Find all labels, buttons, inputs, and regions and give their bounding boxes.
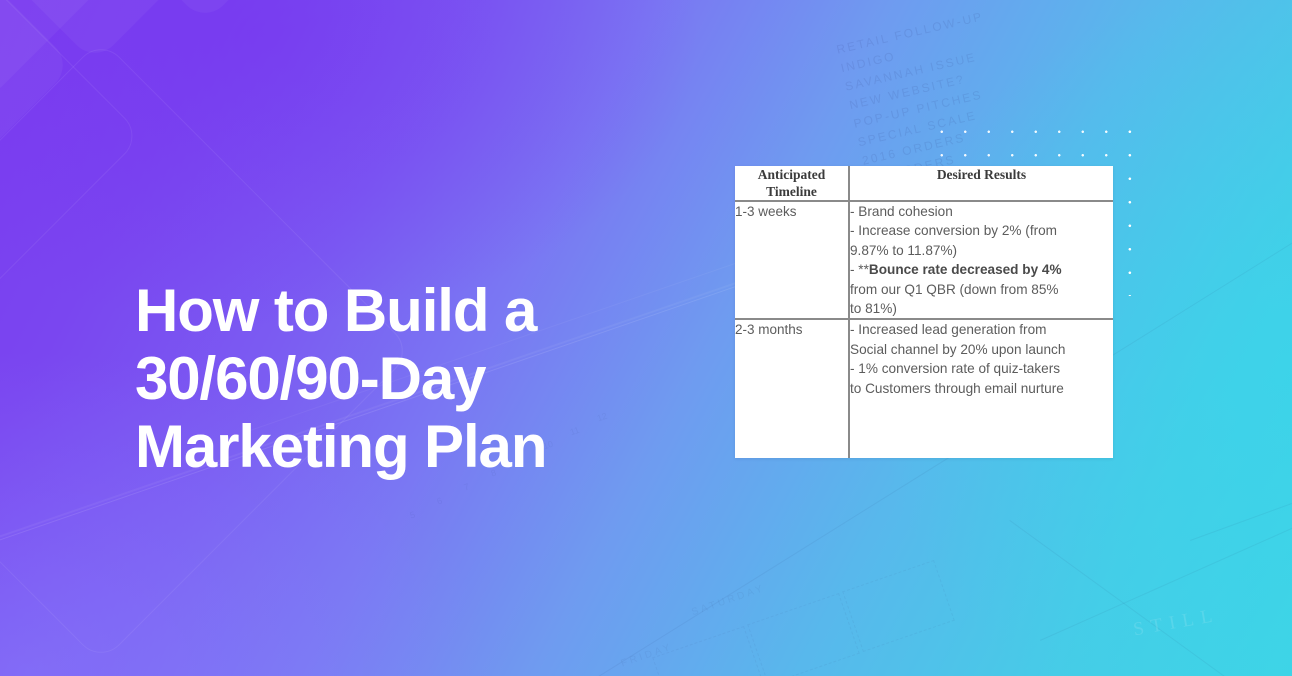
cell-timeline: 2-3 months bbox=[735, 319, 849, 458]
cell-timeline: 1-3 weeks bbox=[735, 201, 849, 319]
sheet-line-3 bbox=[1009, 520, 1292, 676]
result-item-emphasis: Bounce rate decreased by 4% bbox=[869, 262, 1062, 277]
result-item-prefix: - ** bbox=[850, 262, 869, 277]
result-item: - Increase conversion by 2% (from bbox=[850, 221, 1113, 240]
cell-results: - Increased lead generation from Social … bbox=[849, 319, 1113, 458]
column-header-desired-results: Desired Results bbox=[849, 166, 1113, 201]
result-item: - Increased lead generation from bbox=[850, 320, 1113, 339]
table-row: 2-3 months - Increased lead generation f… bbox=[735, 319, 1113, 458]
result-item: from our Q1 QBR (down from 85% bbox=[850, 280, 1113, 299]
timeline-results-table: Anticipated Timeline Desired Results 1-3… bbox=[735, 166, 1113, 458]
result-item: 9.87% to 11.87%) bbox=[850, 241, 1113, 260]
page-title-line-3: Marketing Plan bbox=[135, 413, 695, 481]
column-header-line-1: Anticipated bbox=[758, 167, 826, 182]
column-header-line-2: Timeline bbox=[766, 184, 817, 199]
page-title: How to Build a 30/60/90-Day Marketing Pl… bbox=[135, 277, 695, 481]
edge-letter-e1 bbox=[0, 0, 4, 18]
page-title-line-2: 30/60/90-Day bbox=[135, 345, 695, 413]
cell-results: - Brand cohesion - Increase conversion b… bbox=[849, 201, 1113, 319]
result-item: - 1% conversion rate of quiz-takers bbox=[850, 359, 1113, 378]
sheet-line-4 bbox=[1190, 437, 1292, 541]
table-header-row: Anticipated Timeline Desired Results bbox=[735, 166, 1113, 201]
result-item: Social channel by 20% upon launch bbox=[850, 340, 1113, 359]
result-item: to Customers through email nurture bbox=[850, 379, 1113, 398]
page-title-line-1: How to Build a bbox=[135, 277, 695, 345]
slide-canvas: RETAIL FOLLOW-UP INDIGO SAVANNAH ISSUE N… bbox=[0, 0, 1292, 676]
result-item: - Brand cohesion bbox=[850, 202, 1113, 221]
column-header-anticipated-timeline: Anticipated Timeline bbox=[735, 166, 849, 201]
dot-grid-pattern-right bbox=[1118, 120, 1142, 296]
result-item: to 81%) bbox=[850, 299, 1113, 318]
result-item-bold: - **Bounce rate decreased by 4% bbox=[850, 260, 1113, 279]
table: Anticipated Timeline Desired Results 1-3… bbox=[735, 166, 1113, 458]
table-row: 1-3 weeks - Brand cohesion - Increase co… bbox=[735, 201, 1113, 319]
